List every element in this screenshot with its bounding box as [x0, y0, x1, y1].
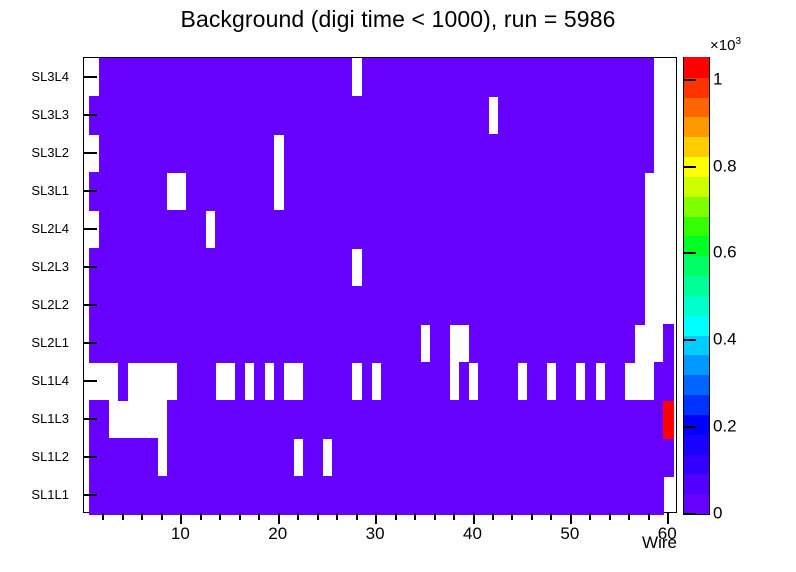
y-axis-label-sl1l1: SL1L1: [31, 488, 69, 501]
colorbar-band: [684, 57, 709, 78]
y-axis-tick: [83, 456, 97, 458]
colorbar-tick-label: 0.2: [713, 418, 737, 435]
heatmap-cell: [459, 362, 469, 401]
heatmap-cell: [663, 362, 673, 401]
colorbar-band: [684, 176, 709, 197]
heatmap-cell: [342, 362, 352, 401]
heatmap-cell: [644, 134, 654, 173]
colorbar-tick-label: 1: [713, 70, 722, 87]
colorbar-band: [684, 394, 709, 415]
heatmap-cell: [663, 324, 673, 363]
y-axis-label-sl3l1: SL3L1: [31, 184, 69, 197]
y-axis-label-sl2l1: SL2L1: [31, 336, 69, 349]
x-axis-minor-tick: [589, 513, 591, 520]
heatmap-cell: [362, 362, 372, 401]
x-axis-minor-tick: [239, 513, 241, 520]
colorbar-band: [684, 255, 709, 276]
heatmap-cell: [634, 172, 644, 211]
heatmap-cell: [439, 362, 449, 401]
colorbar-exponent-label: ×103: [710, 34, 741, 53]
heatmap-cell: [264, 172, 274, 211]
page-title: Background (digi time < 1000), run = 598…: [0, 6, 796, 33]
heatmap-cell: [254, 362, 264, 401]
colorbar-band: [684, 473, 709, 494]
y-axis-label-sl1l2: SL1L2: [31, 450, 69, 463]
colorbar-band: [684, 493, 709, 514]
plot-frame[interactable]: [83, 57, 677, 513]
colorbar-tick: [683, 252, 696, 254]
heatmap-cell: [147, 438, 157, 477]
x-axis-minor-tick: [434, 513, 436, 520]
x-axis-minor-tick: [414, 513, 416, 520]
y-axis-tick: [83, 190, 97, 192]
x-axis-minor-tick: [648, 513, 650, 520]
heatmap-cell: [634, 248, 644, 287]
y-axis-label-sl2l4: SL2L4: [31, 222, 69, 235]
x-axis-minor-tick: [356, 513, 358, 520]
x-axis-major-tick: [375, 513, 377, 524]
colorbar-band: [684, 414, 709, 435]
x-axis-minor-tick: [609, 513, 611, 520]
colorbar-band: [684, 116, 709, 137]
heatmap-cell: [663, 400, 673, 439]
heatmap-cell: [508, 362, 518, 401]
y-axis-label-sl1l3: SL1L3: [31, 412, 69, 425]
colorbar-band: [684, 215, 709, 236]
x-axis-minor-tick: [628, 513, 630, 520]
heatmap-cell: [274, 362, 284, 401]
colorbar[interactable]: [683, 57, 710, 515]
heatmap-cell: [654, 476, 664, 515]
heatmap-cell: [313, 438, 323, 477]
x-axis-major-tick: [473, 513, 475, 524]
heatmap-cell: [634, 286, 644, 325]
heatmap-cell: [206, 362, 216, 401]
x-axis-minor-tick: [531, 513, 533, 520]
colorbar-tick-label: 0.8: [713, 157, 737, 174]
x-axis-major-tick: [570, 513, 572, 524]
colorbar-tick: [683, 79, 696, 81]
heatmap-cell: [585, 362, 595, 401]
heatmap-cells[interactable]: [84, 58, 676, 512]
y-axis-label-sl3l4: SL3L4: [31, 70, 69, 83]
heatmap-cell: [342, 248, 352, 287]
y-axis-label-sl1l4: SL1L4: [31, 374, 69, 387]
x-axis-minor-tick: [336, 513, 338, 520]
y-axis-tick: [83, 342, 97, 344]
heatmap-cell: [118, 362, 128, 401]
heatmap-cell: [196, 210, 206, 249]
y-axis-tick: [83, 266, 97, 268]
x-axis-minor-tick: [161, 513, 163, 520]
colorbar-band: [684, 97, 709, 118]
colorbar-tick: [683, 339, 696, 341]
heatmap-cell: [410, 324, 420, 363]
x-axis-minor-tick: [453, 513, 455, 520]
y-axis-tick: [83, 494, 97, 496]
x-axis-minor-tick: [102, 513, 104, 520]
x-axis-minor-tick: [395, 513, 397, 520]
y-axis-tick: [83, 152, 97, 154]
colorbar-tick: [683, 513, 696, 515]
heatmap-cell: [439, 324, 449, 363]
colorbar-band: [684, 315, 709, 336]
x-axis-minor-tick: [550, 513, 552, 520]
y-axis-label-sl2l2: SL2L2: [31, 298, 69, 311]
colorbar-band: [684, 354, 709, 375]
colorbar-band: [684, 434, 709, 455]
y-axis-tick: [83, 114, 97, 116]
colorbar-band: [684, 275, 709, 296]
colorbar-band: [684, 295, 709, 316]
x-axis-major-tick: [278, 513, 280, 524]
heatmap-cell: [478, 96, 488, 135]
colorbar-band: [684, 136, 709, 157]
x-axis-major-tick: [180, 513, 182, 524]
heatmap-cell: [264, 134, 274, 173]
x-axis-minor-tick: [122, 513, 124, 520]
x-axis-minor-tick: [141, 513, 143, 520]
y-axis-tick: [83, 304, 97, 306]
y-axis-label-sl3l2: SL3L2: [31, 146, 69, 159]
x-axis-minor-tick: [219, 513, 221, 520]
x-axis-minor-tick: [492, 513, 494, 520]
heatmap-cell: [615, 362, 625, 401]
heatmap-cell: [644, 96, 654, 135]
heatmap-cell: [624, 324, 634, 363]
heatmap-cell: [235, 362, 245, 401]
heatmap-cell: [99, 400, 109, 439]
x-axis-minor-tick: [511, 513, 513, 520]
colorbar-tick-label: 0.6: [713, 244, 737, 261]
y-axis-labels: SL1L1SL1L2SL1L3SL1L4SL2L1SL2L2SL2L3SL2L4…: [0, 57, 79, 513]
colorbar-band: [684, 374, 709, 395]
heatmap-cell: [342, 58, 352, 97]
colorbar-tick-label: 0: [713, 505, 722, 522]
x-axis-minor-tick: [297, 513, 299, 520]
colorbar-band: [684, 453, 709, 474]
colorbar-band: [684, 196, 709, 217]
colorbar-band: [684, 334, 709, 355]
y-axis-label-sl2l3: SL2L3: [31, 260, 69, 273]
y-axis-tick: [83, 76, 97, 78]
heatmap-cell: [284, 438, 294, 477]
y-axis-tick: [83, 418, 97, 420]
root-canvas: Background (digi time < 1000), run = 598…: [0, 0, 796, 572]
x-axis-title: Wire: [0, 533, 677, 553]
y-axis-tick: [83, 380, 97, 382]
heatmap-cell: [537, 362, 547, 401]
y-axis-tick: [83, 228, 97, 230]
colorbar-tick-label: 0.4: [713, 331, 737, 348]
heatmap-cell: [634, 210, 644, 249]
x-axis-minor-tick: [258, 513, 260, 520]
heatmap-cell: [566, 362, 576, 401]
x-axis-minor-tick: [200, 513, 202, 520]
colorbar-tick: [683, 426, 696, 428]
heatmap-cell: [157, 172, 167, 211]
x-axis-minor-tick: [317, 513, 319, 520]
x-axis-major-tick: [667, 513, 669, 524]
heatmap-cell: [644, 58, 654, 97]
heatmap-cell: [663, 438, 673, 477]
colorbar-tick: [683, 166, 696, 168]
y-axis-label-sl3l3: SL3L3: [31, 108, 69, 121]
